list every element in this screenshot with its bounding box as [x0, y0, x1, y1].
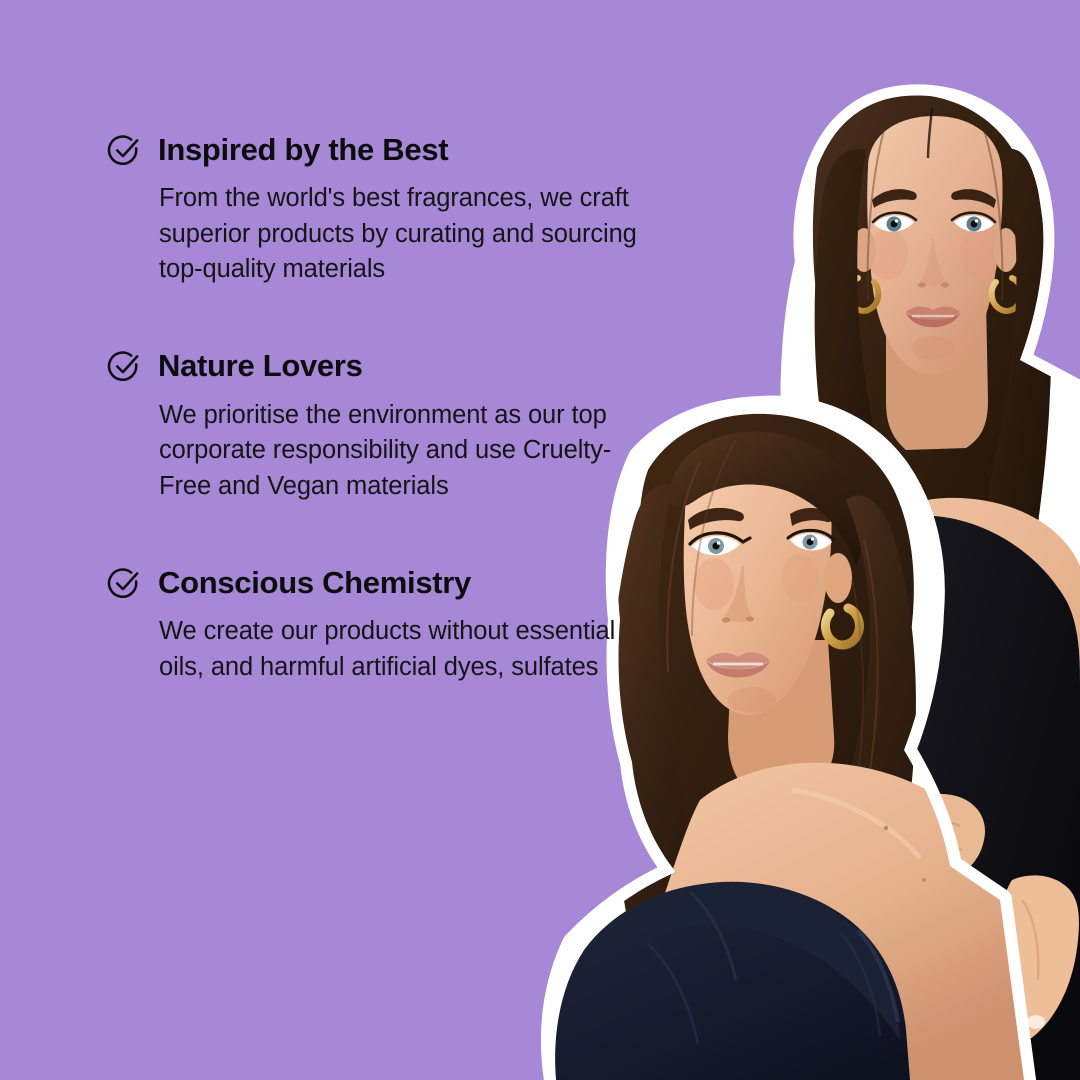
benefit-title: Conscious Chemistry [158, 567, 471, 600]
benefit-item-conscious-chemistry: Conscious Chemistry We create our produc… [107, 561, 667, 685]
back-model [790, 94, 1080, 1080]
benefit-title: Inspired by the Best [158, 134, 448, 167]
check-circle-icon [107, 350, 140, 383]
benefit-item-inspired-by-the-best: Inspired by the Best From the world's be… [107, 128, 667, 288]
benefits-list: Inspired by the Best From the world's be… [107, 128, 667, 685]
check-circle-icon [107, 567, 140, 600]
check-circle-icon [107, 134, 140, 167]
benefit-heading-row: Conscious Chemistry [107, 561, 667, 605]
benefits-card: Inspired by the Best From the world's be… [0, 0, 1080, 1080]
benefit-title: Nature Lovers [158, 350, 363, 383]
benefit-description: We create our products without essential… [159, 614, 659, 685]
benefit-description: From the world's best fragrances, we cra… [159, 181, 659, 288]
benefit-description: We prioritise the environment as our top… [159, 398, 659, 505]
benefit-heading-row: Nature Lovers [107, 345, 667, 389]
benefit-item-nature-lovers: Nature Lovers We prioritise the environm… [107, 345, 667, 505]
benefit-heading-row: Inspired by the Best [107, 128, 667, 172]
